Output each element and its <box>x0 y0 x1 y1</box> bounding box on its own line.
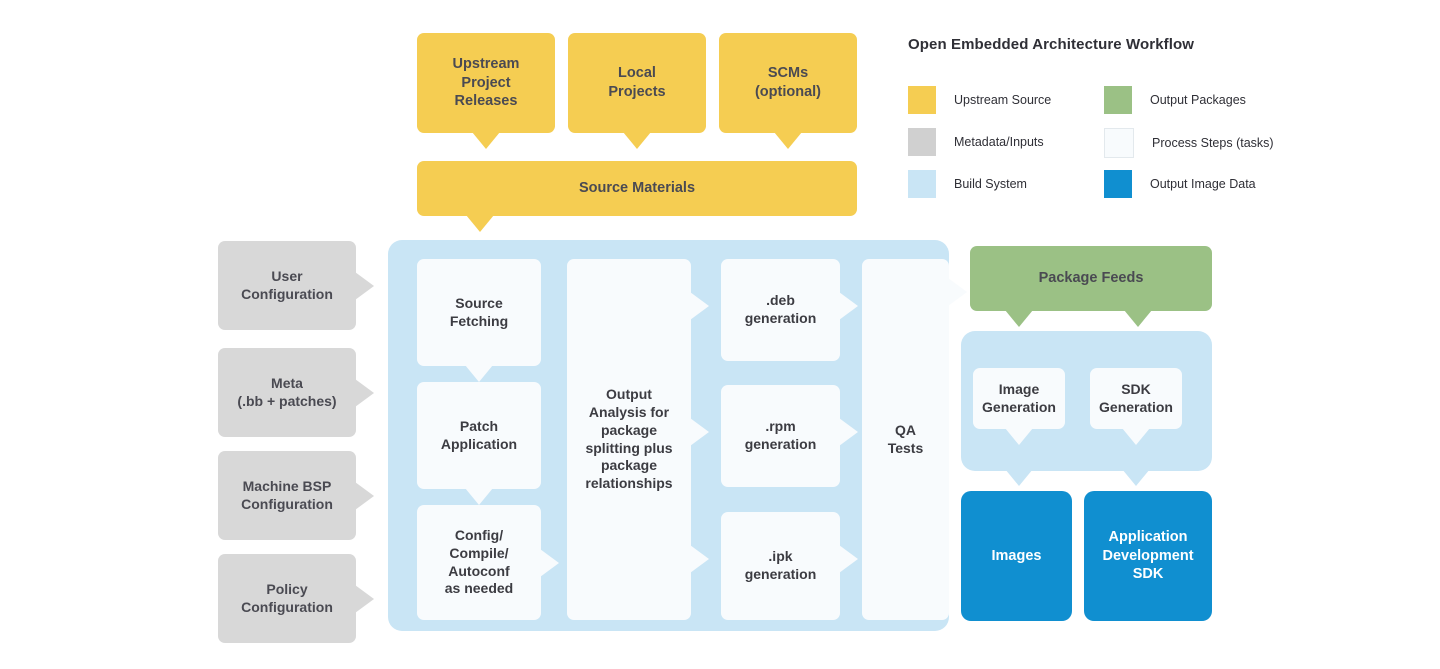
architecture-workflow-diagram: Open Embedded Architecture Workflow Upst… <box>0 0 1440 669</box>
node-label-machine-bsp-configuration: Machine BSP Configuration <box>241 478 333 514</box>
node-label-application-development-sdk: Application Development SDK <box>1102 528 1193 584</box>
legend-label-process-steps: Process Steps (tasks) <box>1152 136 1274 150</box>
node-deb-generation: .deb generation <box>721 259 840 361</box>
arrow-right-machine-bsp-configuration <box>355 482 374 510</box>
arrow-right-policy-configuration <box>355 585 374 613</box>
node-scms: SCMs (optional) <box>719 33 857 133</box>
node-source-fetching: Source Fetching <box>417 259 541 366</box>
node-policy-configuration: Policy Configuration <box>218 554 356 643</box>
legend-swatch-output-packages <box>1104 86 1132 114</box>
arrow-down-source-fetching-to-patch-application <box>465 365 493 382</box>
arrow-down-source-materials-to-build-system <box>466 215 494 232</box>
node-upstream-project-releases: Upstream Project Releases <box>417 33 555 133</box>
node-label-source-fetching: Source Fetching <box>450 295 508 331</box>
node-label-output-analysis: Output Analysis for package splitting pl… <box>585 386 672 493</box>
node-label-source-materials: Source Materials <box>579 179 695 198</box>
legend-swatch-metadata-inputs <box>908 128 936 156</box>
legend-item-metadata-inputs: Metadata/Inputs <box>908 128 1044 156</box>
arrow-down-upstream-to-source-materials <box>472 132 500 149</box>
legend-swatch-output-image-data <box>1104 170 1132 198</box>
node-local-projects: Local Projects <box>568 33 706 133</box>
node-application-development-sdk: Application Development SDK <box>1084 491 1212 621</box>
legend-item-process-steps: Process Steps (tasks) <box>1104 128 1274 158</box>
node-machine-bsp-configuration: Machine BSP Configuration <box>218 451 356 540</box>
arrow-down-patch-application-to-config-compile <box>465 488 493 505</box>
node-images: Images <box>961 491 1072 621</box>
node-label-config-compile-autoconf: Config/ Compile/ Autoconf as needed <box>445 527 513 599</box>
legend-item-upstream-source: Upstream Source <box>908 86 1051 114</box>
legend-title: Open Embedded Architecture Workflow <box>908 36 1248 53</box>
arrow-right-rpm-to-qa-tests <box>839 418 858 446</box>
legend-item-output-image-data: Output Image Data <box>1104 170 1256 198</box>
arrow-right-output-analysis-to-ipk <box>690 545 709 573</box>
node-ipk-generation: .ipk generation <box>721 512 840 620</box>
node-label-patch-application: Patch Application <box>441 418 517 454</box>
arrow-down-package-feeds-to-image-generation <box>1005 310 1033 327</box>
arrow-right-config-compile-to-output-analysis <box>540 549 559 577</box>
node-label-images: Images <box>992 547 1042 566</box>
node-label-image-generation: Image Generation <box>982 381 1056 417</box>
node-rpm-generation: .rpm generation <box>721 385 840 487</box>
legend-label-output-packages: Output Packages <box>1150 93 1246 107</box>
node-label-ipk-generation: .ipk generation <box>745 548 817 584</box>
node-label-package-feeds: Package Feeds <box>1039 269 1144 288</box>
node-label-sdk-generation: SDK Generation <box>1099 381 1173 417</box>
legend-label-metadata-inputs: Metadata/Inputs <box>954 135 1044 149</box>
arrow-right-user-configuration <box>355 272 374 300</box>
node-output-analysis: Output Analysis for package splitting pl… <box>567 259 691 620</box>
arrow-right-qa-tests-to-package-feeds <box>948 278 967 306</box>
arrow-down-sdk-generation-to-sdk <box>1122 469 1150 486</box>
node-source-materials: Source Materials <box>417 161 857 216</box>
node-label-deb-generation: .deb generation <box>745 292 817 328</box>
arrow-right-meta <box>355 379 374 407</box>
node-config-compile-autoconf: Config/ Compile/ Autoconf as needed <box>417 505 541 620</box>
node-label-qa-tests: QA Tests <box>888 422 924 458</box>
legend-item-build-system: Build System <box>908 170 1027 198</box>
node-image-generation: Image Generation <box>973 368 1065 429</box>
arrow-down-image-generation-tail <box>1005 428 1033 445</box>
node-label-user-configuration: User Configuration <box>241 268 333 304</box>
node-label-local-projects: Local Projects <box>608 64 665 101</box>
node-user-configuration: User Configuration <box>218 241 356 330</box>
node-label-upstream-project-releases: Upstream Project Releases <box>453 55 520 111</box>
legend-label-build-system: Build System <box>954 177 1027 191</box>
legend-swatch-build-system <box>908 170 936 198</box>
legend-item-output-packages: Output Packages <box>1104 86 1246 114</box>
arrow-down-scms-to-source-materials <box>774 132 802 149</box>
node-label-policy-configuration: Policy Configuration <box>241 581 333 617</box>
node-label-rpm-generation: .rpm generation <box>745 418 817 454</box>
arrow-right-ipk-to-qa-tests <box>839 545 858 573</box>
arrow-down-sdk-generation-tail <box>1122 428 1150 445</box>
node-label-meta: Meta (.bb + patches) <box>237 375 336 411</box>
node-qa-tests: QA Tests <box>862 259 949 620</box>
legend-label-output-image-data: Output Image Data <box>1150 177 1256 191</box>
node-sdk-generation: SDK Generation <box>1090 368 1182 429</box>
legend-label-upstream-source: Upstream Source <box>954 93 1051 107</box>
legend-swatch-upstream-source <box>908 86 936 114</box>
arrow-down-package-feeds-to-sdk-generation <box>1124 310 1152 327</box>
legend: Open Embedded Architecture Workflow Upst… <box>908 36 1248 196</box>
node-meta: Meta (.bb + patches) <box>218 348 356 437</box>
arrow-down-image-generation-to-images <box>1005 469 1033 486</box>
node-label-scms: SCMs (optional) <box>755 64 821 101</box>
node-patch-application: Patch Application <box>417 382 541 489</box>
arrow-down-local-projects-to-source-materials <box>623 132 651 149</box>
arrow-right-deb-to-qa-tests <box>839 292 858 320</box>
node-package-feeds: Package Feeds <box>970 246 1212 311</box>
arrow-right-output-analysis-to-rpm <box>690 418 709 446</box>
arrow-right-output-analysis-to-deb <box>690 292 709 320</box>
legend-swatch-process-steps <box>1104 128 1134 158</box>
